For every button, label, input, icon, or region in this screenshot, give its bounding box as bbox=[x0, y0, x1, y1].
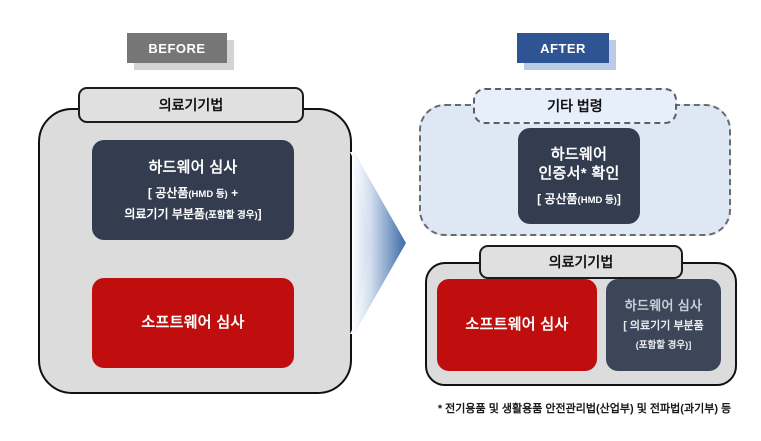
after-hardware-line2-paren: (포함할 경우) bbox=[636, 340, 689, 351]
after-banner: AFTER bbox=[517, 33, 609, 63]
before-hardware-line1-plus: + bbox=[231, 186, 238, 200]
after-hardware-cert-sub-paren: (HMD 등) bbox=[578, 195, 617, 206]
before-banner-label: BEFORE bbox=[148, 41, 205, 56]
before-hardware-line1-open: [ 공산품 bbox=[148, 186, 188, 200]
before-hardware-line2-close: ] bbox=[258, 207, 262, 221]
before-hardware-review-title: 하드웨어 심사 bbox=[148, 158, 237, 177]
right-chevron-arrow-icon bbox=[348, 150, 408, 336]
after-software-review-card: 소프트웨어 심사 bbox=[437, 279, 597, 371]
after-hardware-cert-sub-open: [ 공산품 bbox=[537, 192, 577, 206]
diagram-canvas: BEFORE 의료기기법 하드웨어 심사 [ 공산품(HMD 등) + 의료기기… bbox=[0, 0, 761, 441]
after-hardware-review-title: 하드웨어 심사 bbox=[625, 298, 702, 315]
after-hardware-review-line1: [ 의료기기 부분품 bbox=[623, 319, 704, 333]
before-software-review-title: 소프트웨어 심사 bbox=[141, 313, 244, 332]
before-hardware-line2-main: 의료기기 부분품 bbox=[124, 207, 205, 221]
before-hardware-review-line1: [ 공산품(HMD 등) + bbox=[148, 186, 238, 202]
after-hardware-cert-sub-close: ] bbox=[617, 192, 621, 206]
after-law-tab-label: 의료기기법 bbox=[549, 252, 613, 272]
after-hardware-certificate-card: 하드웨어 인증서* 확인 [ 공산품(HMD 등)] bbox=[518, 128, 640, 224]
before-banner: BEFORE bbox=[127, 33, 227, 63]
after-software-review-title: 소프트웨어 심사 bbox=[465, 315, 568, 334]
after-hardware-review-card: 하드웨어 심사 [ 의료기기 부분품 (포함할 경우)] bbox=[606, 279, 721, 371]
after-other-laws-tab: 기타 법령 bbox=[473, 88, 677, 124]
after-hardware-cert-sub: [ 공산품(HMD 등)] bbox=[537, 192, 621, 208]
footnote-text: * 전기용품 및 생활용품 안전관리법(산업부) 및 전파법(과기부) 등 bbox=[412, 400, 757, 416]
after-law-tab: 의료기기법 bbox=[479, 245, 683, 279]
after-hardware-cert-title-line2: 인증서* 확인 bbox=[538, 164, 619, 183]
before-hardware-review-card: 하드웨어 심사 [ 공산품(HMD 등) + 의료기기 부분품(포함할 경우)] bbox=[92, 140, 294, 240]
after-hardware-cert-title: 하드웨어 인증서* 확인 bbox=[538, 145, 619, 183]
after-other-laws-tab-label: 기타 법령 bbox=[547, 96, 602, 116]
before-law-tab: 의료기기법 bbox=[78, 87, 304, 123]
before-hardware-line2-paren: (포함할 경우) bbox=[205, 210, 258, 221]
before-law-tab-label: 의료기기법 bbox=[159, 95, 223, 115]
before-software-review-card: 소프트웨어 심사 bbox=[92, 278, 294, 368]
after-hardware-cert-title-line1: 하드웨어 bbox=[538, 145, 619, 164]
before-hardware-review-line2: 의료기기 부분품(포함할 경우)] bbox=[124, 207, 261, 223]
after-hardware-line2-close: ] bbox=[688, 340, 691, 351]
after-hardware-review-line2: (포함할 경우)] bbox=[636, 340, 692, 352]
before-hardware-line1-paren: (HMD 등) bbox=[188, 189, 227, 200]
after-banner-label: AFTER bbox=[540, 41, 586, 56]
